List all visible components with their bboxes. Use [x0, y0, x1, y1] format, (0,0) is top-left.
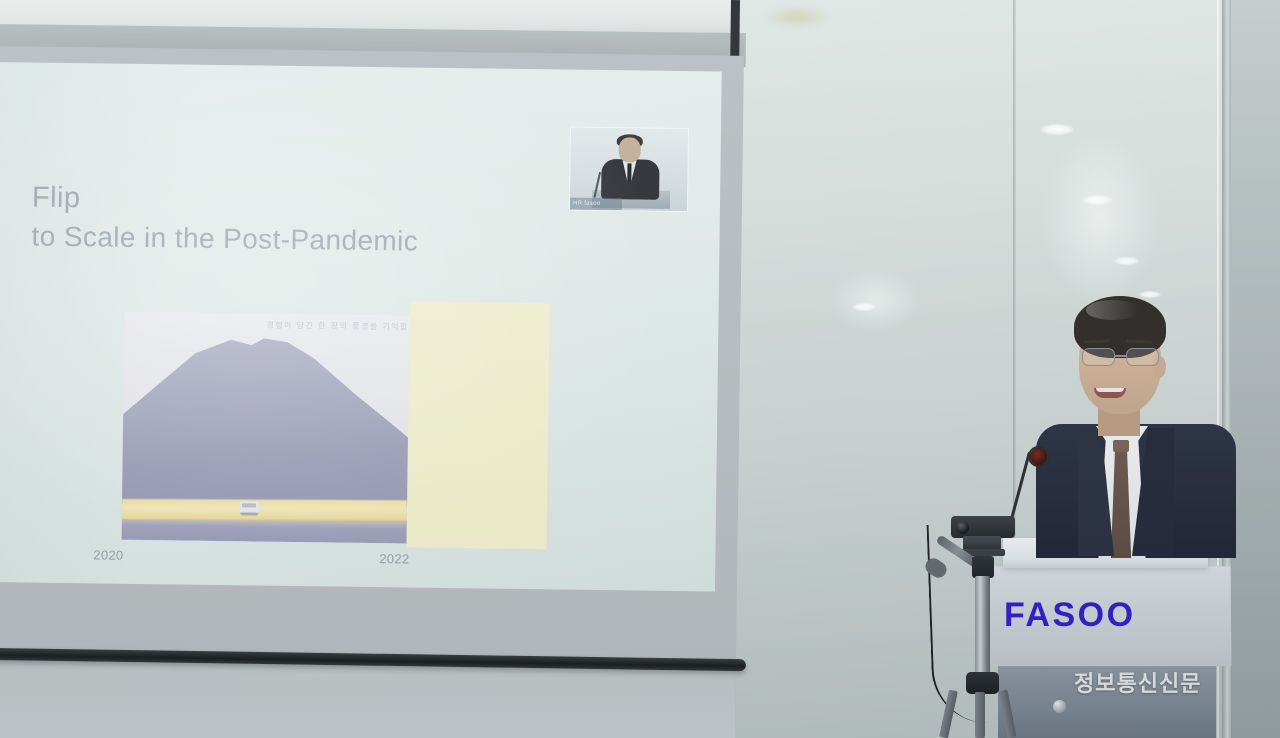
tripod-leg-collar — [966, 672, 999, 694]
light-reflection — [830, 270, 920, 330]
slide-illustration: 경험이 담긴 한 장의 풍경을 기억합니다 — [122, 312, 410, 544]
road-band — [122, 499, 407, 520]
glasses-bridge — [1115, 355, 1126, 357]
handwritten-note: 경험이 담긴 한 장의 풍경을 기억합니다 — [266, 320, 392, 336]
glasses-lens-right — [1126, 348, 1159, 366]
speaker-figure — [1022, 296, 1254, 558]
pip-name-tag: HR fasoo — [570, 198, 622, 211]
axis-label-left: 2020 — [93, 547, 123, 562]
pip-speaker-head — [619, 137, 641, 162]
speaker-hair-highlight — [1086, 300, 1138, 320]
slide-title-line2: to Scale in the Post-Pandemic — [31, 217, 591, 262]
tripod-leg — [975, 692, 985, 738]
tripod-neck — [972, 556, 994, 578]
speaker-teeth — [1096, 388, 1124, 392]
glasses-lens-left — [1082, 348, 1115, 366]
podium-logo: FASOO — [1004, 596, 1136, 635]
photo-scene: Flip to Scale in the Post-Pandemic 경험이 담… — [0, 0, 1280, 738]
podium-knob — [1053, 700, 1066, 713]
speaker-tie-knot — [1113, 440, 1129, 452]
glasses-icon — [1078, 348, 1164, 366]
pip-video-feed[interactable]: HR fasoo — [570, 128, 688, 212]
projector-screen: Flip to Scale in the Post-Pandemic 경험이 담… — [0, 46, 744, 664]
tripod-center-column — [975, 576, 990, 676]
slide-title: Flip to Scale in the Post-Pandemic — [31, 179, 592, 263]
pip-speaker-tie — [627, 163, 631, 182]
watermark: 정보통신신문 — [1074, 666, 1201, 698]
axis-label-right: 2022 — [379, 551, 409, 566]
wall-discoloration — [762, 6, 832, 28]
microphone-icon — [1030, 448, 1047, 465]
van-icon — [240, 501, 259, 513]
camera-lens-icon — [956, 521, 969, 534]
light-reflection — [1040, 130, 1160, 305]
tripod-head[interactable] — [963, 536, 1001, 550]
slide-accent-panel — [406, 301, 549, 549]
projected-slide: Flip to Scale in the Post-Pandemic 경험이 담… — [0, 62, 722, 591]
ceiling-downlight-icon — [1040, 124, 1074, 135]
